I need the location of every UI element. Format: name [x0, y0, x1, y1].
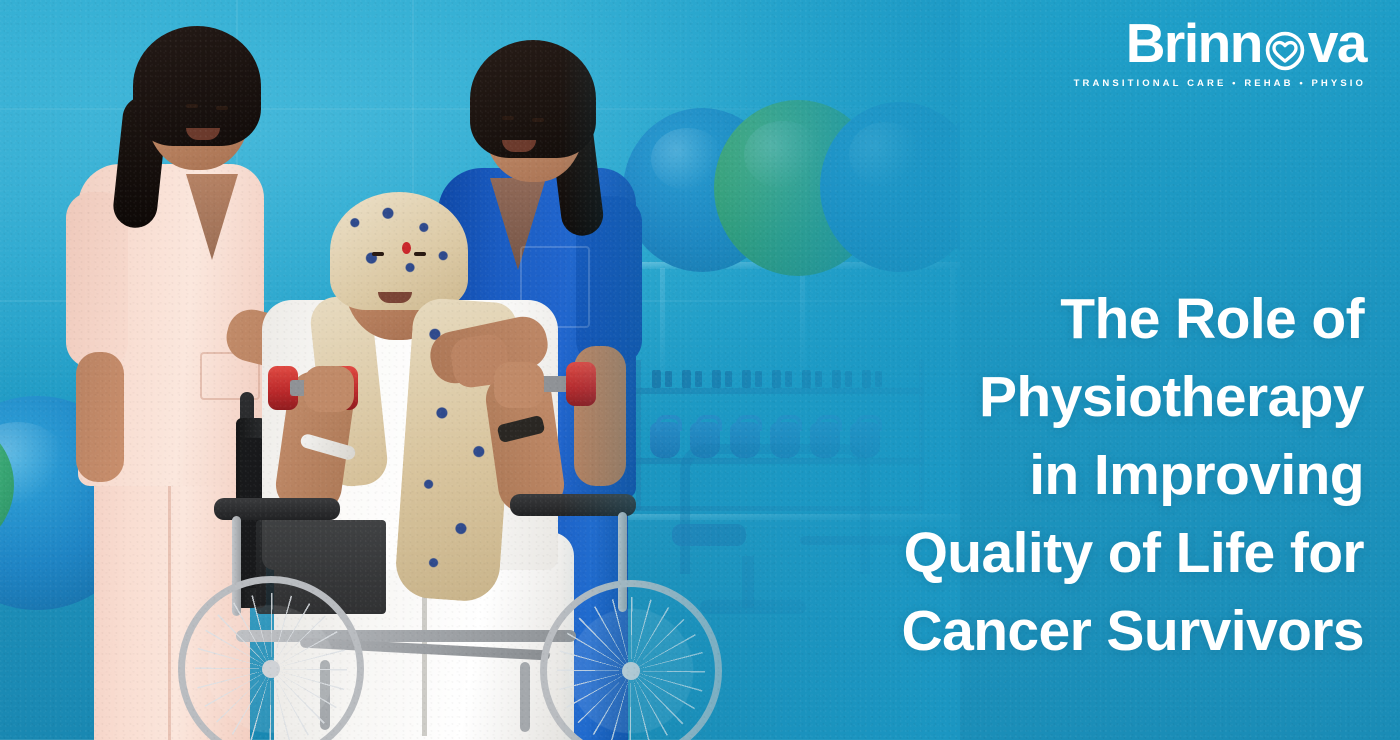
headline-line-2: Physiotherapy	[724, 358, 1364, 436]
brand-tagline: TRANSITIONAL CARE • REHAB • PHYSIO	[1074, 78, 1366, 89]
patient-hand	[304, 366, 354, 412]
page-title: The Role of Physiotherapy in Improving Q…	[724, 280, 1364, 670]
brand-logo[interactable]: Brinn va TRANSITIONAL CARE • REHAB • PHY…	[1074, 16, 1366, 89]
eye	[532, 118, 544, 122]
patient-hand	[494, 362, 544, 408]
brand-name-part2: va	[1308, 16, 1366, 71]
eye	[414, 252, 426, 256]
eye	[186, 104, 198, 108]
headline-line-1: The Role of	[724, 280, 1364, 358]
brand-name-part1: Brinn	[1126, 16, 1262, 71]
eye	[216, 106, 228, 110]
headline-line-3: in Improving	[724, 436, 1364, 514]
headline-line-5: Cancer Survivors	[724, 592, 1364, 670]
eye	[372, 252, 384, 256]
wheel-hub	[262, 660, 280, 678]
eye	[502, 116, 514, 120]
nurse-pink-arm	[76, 352, 124, 482]
hero-banner: Brinn va TRANSITIONAL CARE • REHAB • PHY…	[0, 0, 1400, 740]
brand-wordmark: Brinn va	[1074, 16, 1366, 71]
headline-line-4: Quality of Life for	[724, 514, 1364, 592]
heart-in-circle-icon	[1263, 27, 1307, 71]
wheelchair-footrest-post	[520, 662, 530, 732]
bindi	[402, 242, 411, 254]
